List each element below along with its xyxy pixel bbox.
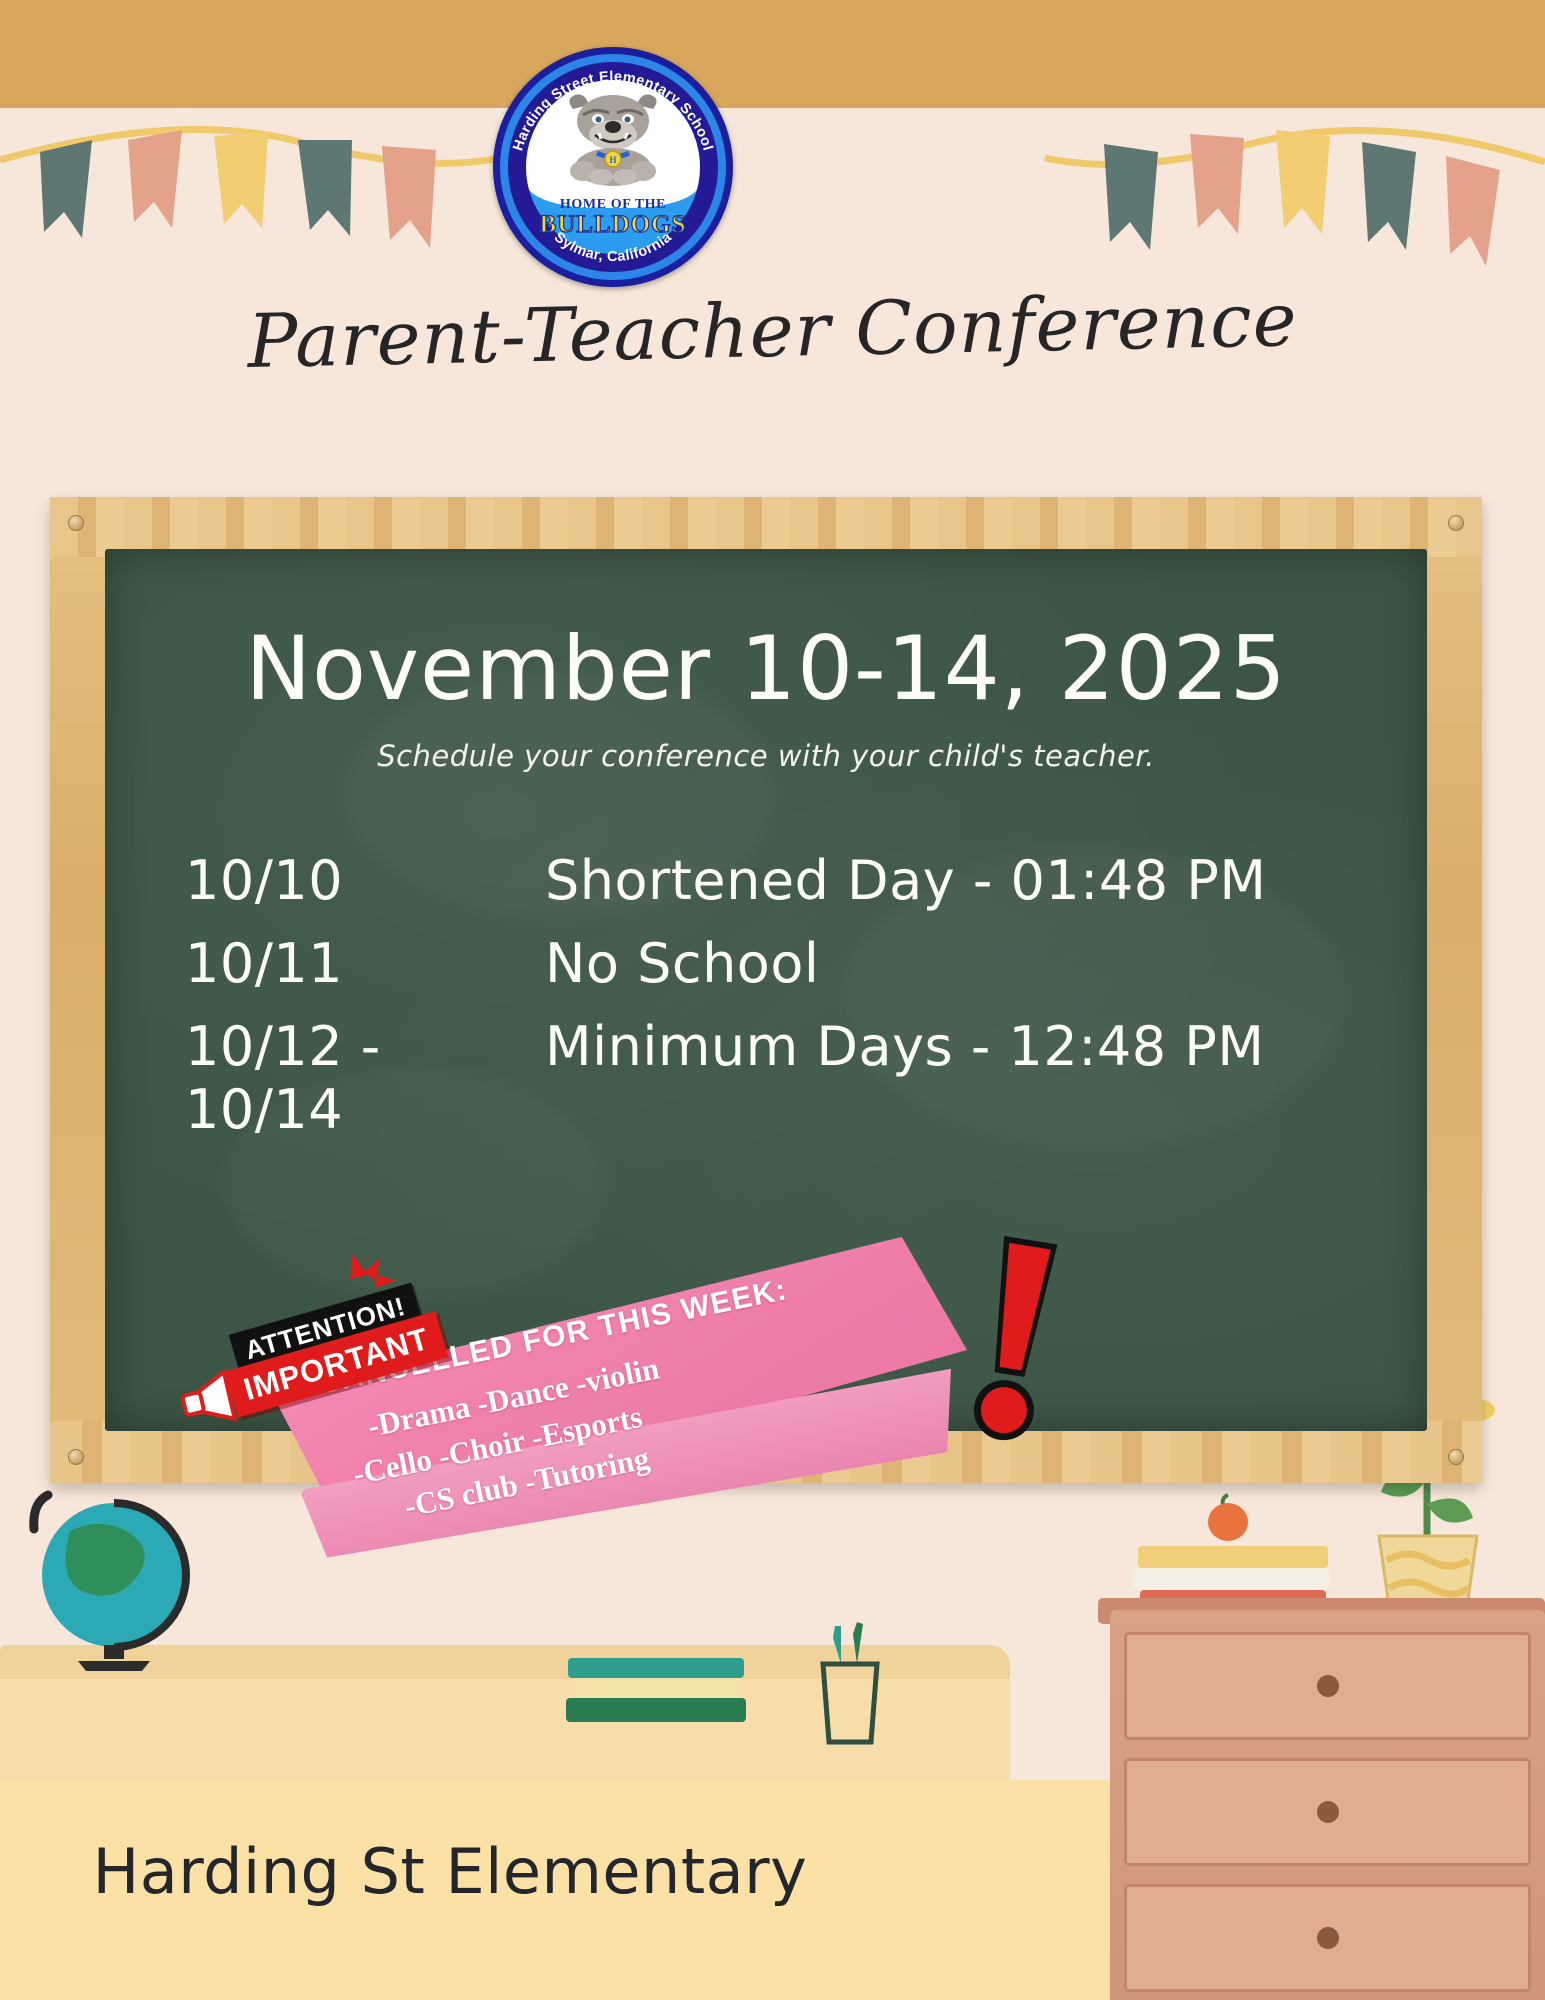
svg-text:H: H [609,155,616,165]
schedule-row: 10/11 No School [185,932,1365,995]
schedule-row: 10/10 Shortened Day - 01:48 PM [185,849,1365,912]
dresser-drawer[interactable] [1124,1884,1531,1992]
dresser-drawer[interactable] [1124,1758,1531,1866]
schedule-date: 10/11 [185,932,545,995]
dresser [1110,1610,1545,2000]
bulldog-mascot-icon: H [557,91,669,187]
schedule-date: 10/10 [185,849,545,912]
schedule-date: 10/12 - 10/14 [185,1015,545,1141]
frame-screw-icon [68,515,84,531]
logo-bulldogs-text: BULLDOGS [493,211,733,239]
drawer-knob-icon[interactable] [1317,1801,1339,1823]
frame-screw-icon [1448,515,1464,531]
schedule-description: No School [545,932,819,995]
pencil-cup-icon [805,1620,891,1750]
conference-subtitle: Schedule your conference with your child… [105,739,1427,773]
school-name-footer: Harding St Elementary [0,1835,900,1908]
schedule-description: Shortened Day - 01:48 PM [545,849,1266,912]
schedule-row: 10/12 - 10/14 Minimum Days - 12:48 PM [185,1015,1365,1141]
books-stack-icon [560,1652,760,1732]
schedule-description: Minimum Days - 12:48 PM [545,1015,1264,1078]
dresser-drawer[interactable] [1124,1632,1531,1740]
bunting-decoration [0,100,1545,300]
schedule-list: 10/10 Shortened Day - 01:48 PM 10/11 No … [185,849,1365,1161]
drawer-knob-icon[interactable] [1317,1675,1339,1697]
frame-screw-icon [1448,1449,1464,1465]
globe-icon [18,1465,218,1680]
conference-date-range: November 10-14, 2025 [105,617,1427,720]
top-color-band [0,0,1545,108]
frame-screw-icon [68,1449,84,1465]
drawer-knob-icon[interactable] [1317,1927,1339,1949]
school-logo: Harding Street Elementary School Sylmar,… [493,47,733,287]
